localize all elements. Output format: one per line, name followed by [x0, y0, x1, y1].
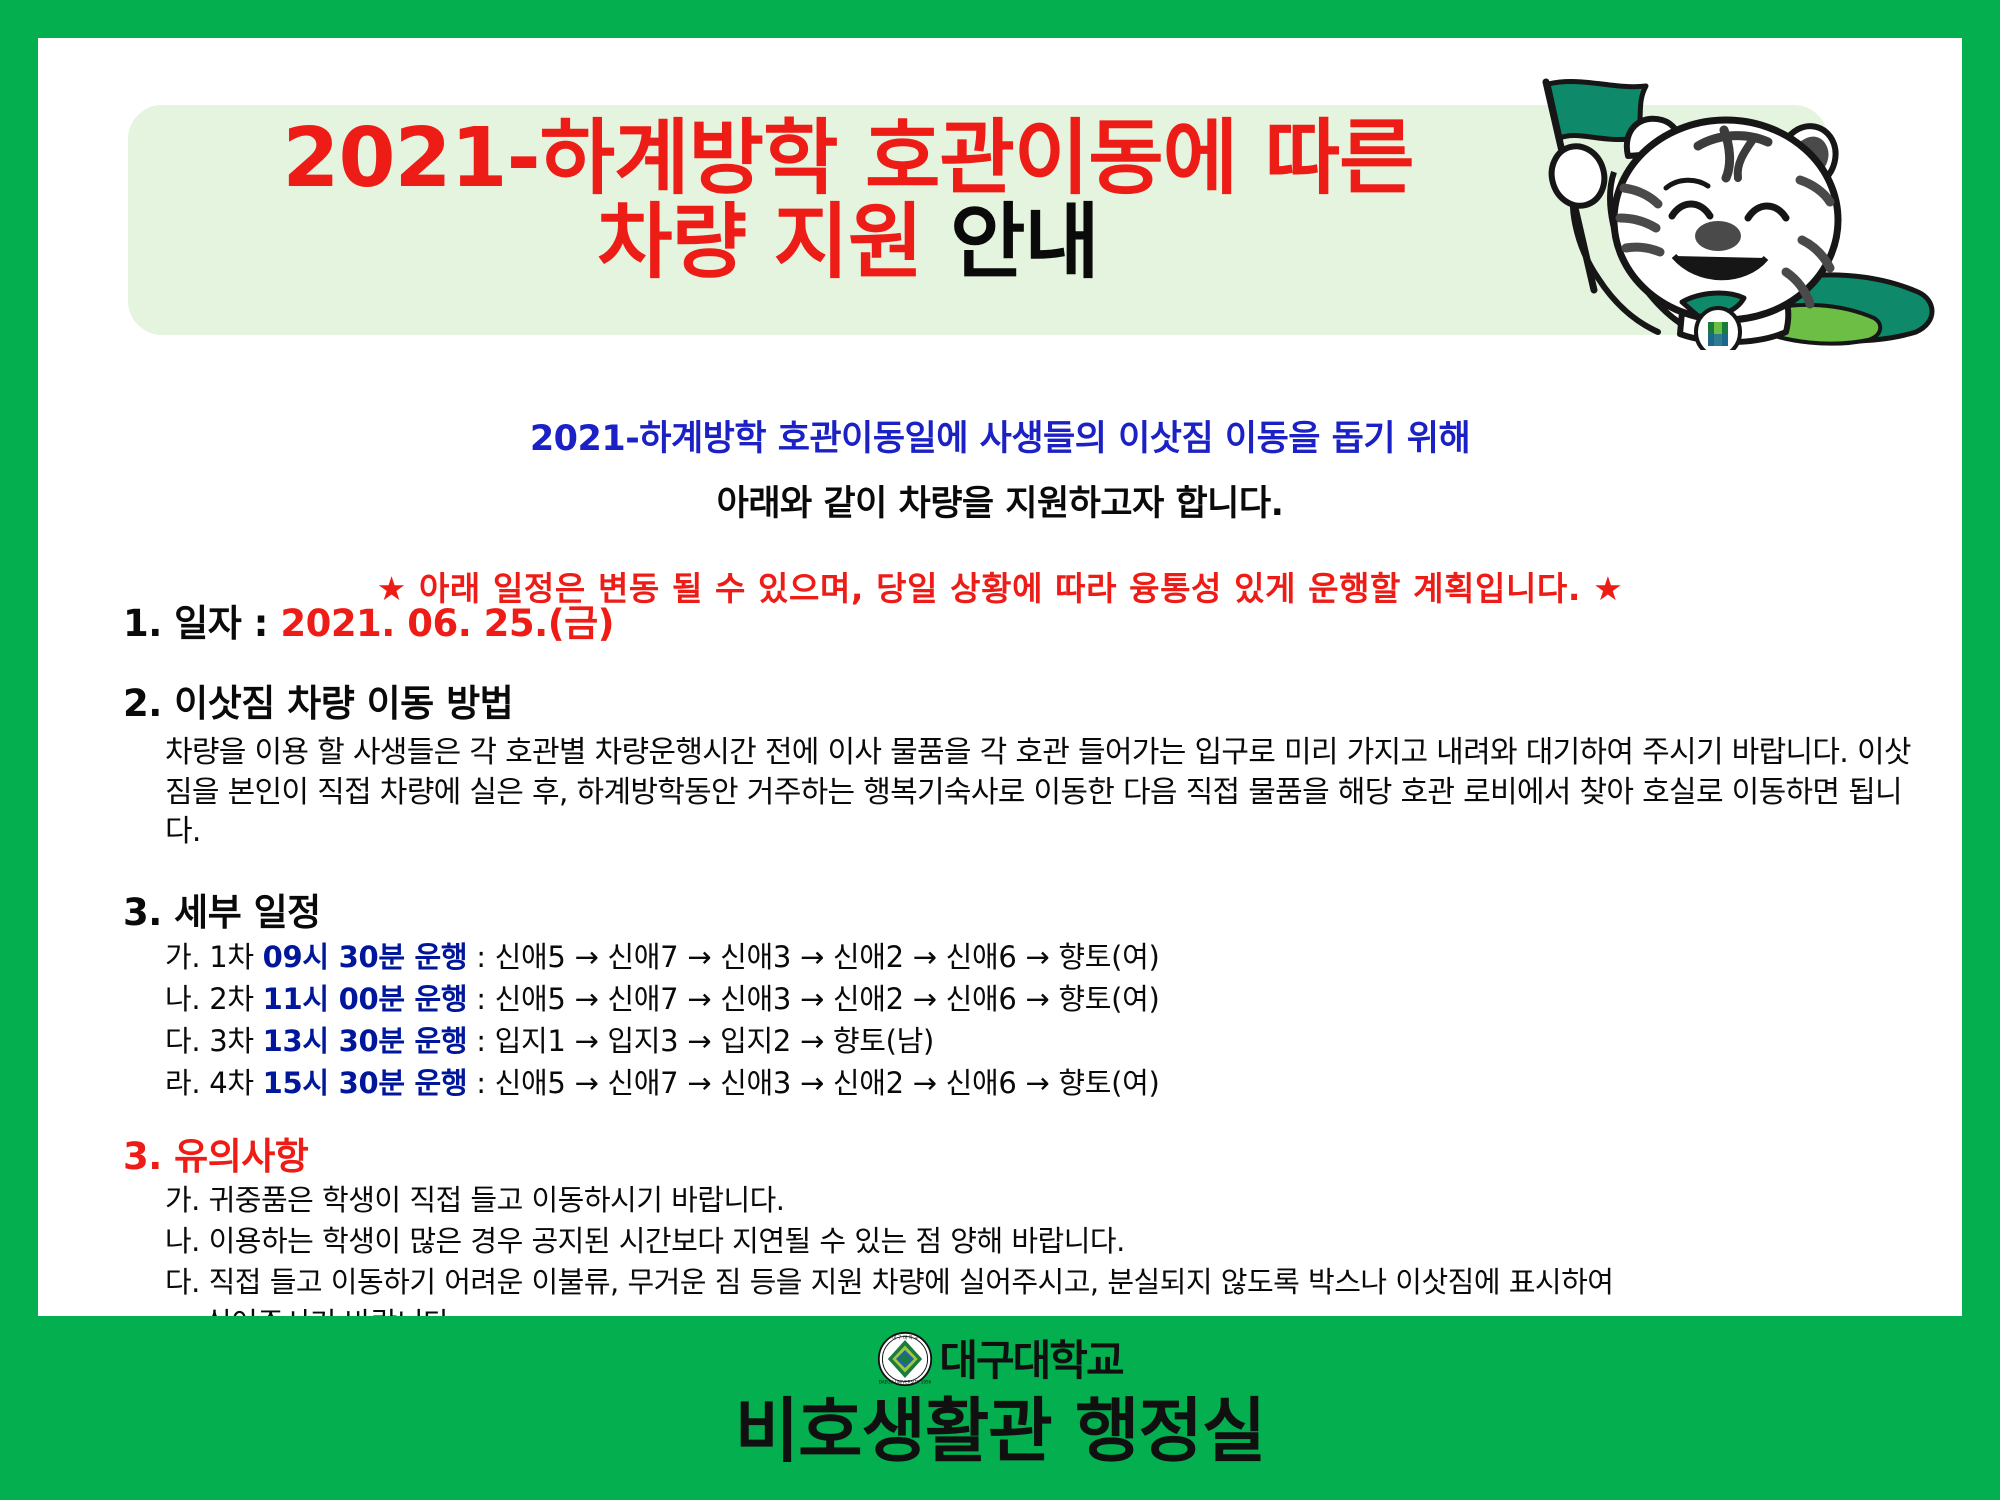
title-line-2-red-text: 차량 지원	[597, 195, 922, 290]
section-schedule-heading: 3. 세부 일정	[123, 882, 1962, 936]
section-date-label: 1. 일자 :	[123, 602, 280, 645]
section-date-heading: 1. 일자 : 2021. 06. 25.(금)	[123, 593, 1962, 647]
notice-list: 가. 귀중품은 학생이 직접 들고 이동하시기 바랍니다. 나. 이용하는 학생…	[165, 1180, 1962, 1316]
footer: 대 구 대 학 교 DAEGU UNIVERSITY 1956 대구대학교 비호…	[0, 1316, 2000, 1500]
title-line-2: 차량 지원 안내	[158, 201, 1538, 285]
title-line-2-black-text: 안내	[950, 195, 1099, 290]
notice-item: 다. 직접 들고 이동하기 어려운 이불류, 무거운 짐 등을 지원 차량에 실…	[165, 1262, 1962, 1316]
poster-root: 2021-하계방학 호관이동에 따른 차량 지원 안내	[0, 0, 2000, 1500]
subtitle-block: 2021-하계방학 호관이동일에 사생들의 이삿짐 이동을 돕기 위해 아래와 …	[76, 410, 1924, 610]
schedule-item-label: 가. 1차	[165, 940, 263, 974]
schedule-item: 가. 1차 09시 30분 운행 : 신애5 → 신애7 → 신애3 → 신애2…	[165, 936, 1962, 978]
footer-office-name: 비호생활관 행정실	[0, 1396, 2000, 1466]
schedule-item: 라. 4차 15시 30분 운행 : 신애5 → 신애7 → 신애3 → 신애2…	[165, 1062, 1962, 1104]
title-line-1: 2021-하계방학 호관이동에 따른	[158, 117, 1538, 201]
schedule-item-time: 11시 00분 운행	[263, 982, 468, 1016]
notice-item-continuation: 실어주시기 바랍니다.	[205, 1303, 1962, 1316]
daegu-university-logo-icon: 대 구 대 학 교 DAEGU UNIVERSITY 1956	[877, 1331, 933, 1391]
notice-item-text: 나. 이용하는 학생이 많은 경우 공지된 시간보다 지연될 수 있는 점 양해…	[165, 1224, 1125, 1258]
subtitle-line-1: 2021-하계방학 호관이동일에 사생들의 이삿짐 이동을 돕기 위해	[76, 410, 1924, 461]
page-title: 2021-하계방학 호관이동에 따른 차량 지원 안내	[158, 117, 1538, 284]
schedule-item-time: 15시 30분 운행	[263, 1066, 468, 1100]
schedule-item-route: : 신애5 → 신애7 → 신애3 → 신애2 → 신애6 → 향토(여)	[467, 1066, 1159, 1100]
section-notice-heading: 3. 유의사항	[123, 1126, 1962, 1180]
svg-text:DAEGU UNIVERSITY 1956: DAEGU UNIVERSITY 1956	[879, 1379, 932, 1384]
notice-item: 나. 이용하는 학생이 많은 경우 공지된 시간보다 지연될 수 있는 점 양해…	[165, 1221, 1962, 1262]
content-body: 1. 일자 : 2021. 06. 25.(금) 2. 이삿짐 차량 이동 방법…	[123, 593, 1962, 1316]
notice-item: 가. 귀중품은 학생이 직접 들고 이동하시기 바랍니다.	[165, 1180, 1962, 1221]
schedule-item: 다. 3차 13시 30분 운행 : 입지1 → 입지3 → 입지2 → 향토(…	[165, 1020, 1962, 1062]
schedule-item: 나. 2차 11시 00분 운행 : 신애5 → 신애7 → 신애3 → 신애2…	[165, 978, 1962, 1020]
schedule-item-route: : 신애5 → 신애7 → 신애3 → 신애2 → 신애6 → 향토(여)	[467, 982, 1159, 1016]
white-content-panel: 2021-하계방학 호관이동에 따른 차량 지원 안내	[38, 38, 1962, 1316]
section-method-body: 차량을 이용 할 사생들은 각 호관별 차량운행시간 전에 이사 물품을 각 호…	[165, 733, 1925, 852]
footer-brand: 대 구 대 학 교 DAEGU UNIVERSITY 1956 대구대학교	[0, 1332, 2000, 1390]
schedule-item-label: 라. 4차	[165, 1066, 263, 1100]
section-method-heading: 2. 이삿짐 차량 이동 방법	[123, 673, 1962, 727]
schedule-item-time: 09시 30분 운행	[263, 940, 468, 974]
schedule-item-route: : 입지1 → 입지3 → 입지2 → 향토(남)	[467, 1024, 934, 1058]
footer-university-name: 대구대학교	[939, 1340, 1122, 1382]
subtitle-line-2: 아래와 같이 차량을 지원하고자 합니다.	[76, 475, 1924, 526]
schedule-item-time: 13시 30분 운행	[263, 1024, 468, 1058]
schedule-item-route: : 신애5 → 신애7 → 신애3 → 신애2 → 신애6 → 향토(여)	[467, 940, 1159, 974]
notice-item-text: 가. 귀중품은 학생이 직접 들고 이동하시기 바랍니다.	[165, 1183, 785, 1217]
schedule-list: 가. 1차 09시 30분 운행 : 신애5 → 신애7 → 신애3 → 신애2…	[165, 936, 1962, 1104]
schedule-item-label: 다. 3차	[165, 1024, 263, 1058]
notice-item-text: 다. 직접 들고 이동하기 어려운 이불류, 무거운 짐 등을 지원 차량에 실…	[165, 1265, 1613, 1299]
header-band: 2021-하계방학 호관이동에 따른 차량 지원 안내	[128, 105, 1828, 335]
section-date-value: 2021. 06. 25.(금)	[280, 602, 614, 645]
schedule-item-label: 나. 2차	[165, 982, 263, 1016]
title-line-1-text: 2021-하계방학 호관이동에 따른	[282, 111, 1413, 206]
